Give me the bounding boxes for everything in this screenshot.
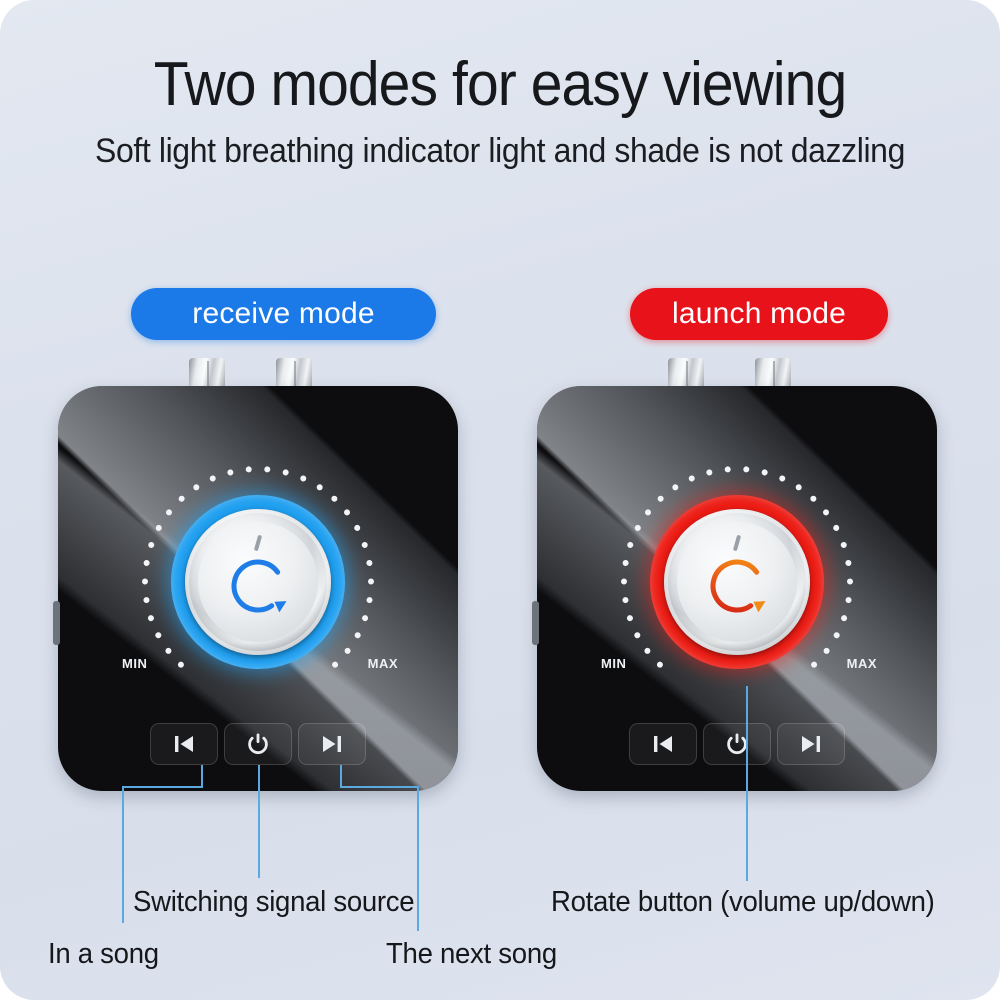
led-dot: [847, 579, 853, 585]
volume-knob-assembly[interactable]: MIN MAX: [140, 464, 376, 700]
led-dot: [366, 597, 373, 604]
control-button-row: [629, 722, 845, 766]
led-dot: [264, 466, 270, 472]
skip-forward-icon: [320, 733, 344, 755]
led-dot: [330, 494, 338, 502]
leader-line-next-song-seg3: [417, 786, 419, 931]
scale-label-min: MIN: [601, 656, 626, 671]
volume-knob-assembly[interactable]: MIN MAX: [619, 464, 855, 700]
rotary-knob[interactable]: [185, 509, 331, 655]
led-dot: [331, 660, 339, 668]
led-dot: [154, 631, 162, 639]
power-icon: [246, 732, 270, 756]
led-dot: [621, 579, 627, 585]
device-body: MIN MAX: [537, 386, 937, 791]
led-dot: [724, 466, 730, 472]
led-dot: [743, 466, 749, 472]
badge-receive-mode: receive mode: [131, 288, 436, 340]
badge-launch-mode: launch mode: [630, 288, 888, 340]
led-dot: [622, 597, 629, 604]
led-dot: [177, 660, 185, 668]
led-dot: [245, 466, 251, 472]
scale-label-max: MAX: [368, 656, 398, 671]
led-dot: [633, 631, 641, 639]
led-dot: [165, 508, 173, 516]
led-dot: [822, 647, 830, 655]
leader-line-rotate-button: [746, 686, 748, 881]
rotate-arrow-icon: [216, 544, 300, 628]
led-dot: [634, 524, 642, 532]
led-dot: [833, 631, 841, 639]
led-dot: [143, 560, 150, 567]
badge-launch-mode-label: launch mode: [672, 297, 846, 331]
led-dot: [840, 614, 848, 622]
knob-face: [198, 522, 318, 642]
led-dot: [299, 475, 307, 483]
leader-line-in-a-song-seg2: [122, 786, 203, 788]
led-dot: [343, 508, 351, 516]
page-subheadline: Soft light breathing indicator light and…: [30, 134, 970, 168]
leader-line-in-a-song-seg1: [201, 765, 203, 787]
led-dot: [656, 494, 664, 502]
led-dot: [845, 597, 852, 604]
led-dot: [147, 541, 155, 549]
led-dot: [810, 660, 818, 668]
skip-forward-icon: [799, 733, 823, 755]
led-dot: [761, 469, 768, 476]
led-dot: [822, 508, 830, 516]
next-track-button[interactable]: [298, 723, 366, 765]
side-button[interactable]: [53, 601, 60, 645]
led-dot: [795, 483, 803, 491]
led-dot: [368, 579, 374, 585]
leader-line-switching-signal-source: [258, 765, 260, 878]
led-dot: [155, 524, 163, 532]
led-dot: [706, 469, 713, 476]
led-dot: [626, 541, 634, 549]
rotary-knob[interactable]: [664, 509, 810, 655]
led-dot: [361, 614, 369, 622]
led-dot: [361, 541, 369, 549]
control-button-row: [150, 722, 366, 766]
led-dot: [142, 579, 148, 585]
leader-line-next-song-seg2: [340, 786, 418, 788]
knob-face: [677, 522, 797, 642]
led-dot: [644, 508, 652, 516]
next-track-button[interactable]: [777, 723, 845, 765]
led-dot: [353, 524, 361, 532]
led-dot: [227, 469, 234, 476]
led-dot: [840, 541, 848, 549]
led-dot: [671, 483, 679, 491]
caption-switching-signal-source: Switching signal source: [133, 886, 414, 919]
led-dot: [845, 560, 852, 567]
led-dot: [688, 475, 696, 483]
led-dot: [192, 483, 200, 491]
led-dot: [626, 614, 634, 622]
rotate-arrow-icon: [695, 544, 779, 628]
leader-line-next-song-seg1: [340, 765, 342, 787]
led-dot: [809, 494, 817, 502]
device-receive-mode: MIN MAX: [58, 386, 458, 816]
power-button[interactable]: [224, 723, 292, 765]
led-dot: [832, 524, 840, 532]
leader-line-in-a-song-seg3: [122, 786, 124, 923]
page-headline: Two modes for easy viewing: [40, 54, 960, 116]
led-dot: [343, 647, 351, 655]
previous-track-button[interactable]: [150, 723, 218, 765]
led-dot: [366, 560, 373, 567]
led-dot: [354, 631, 362, 639]
caption-in-a-song: In a song: [48, 938, 159, 971]
led-dot: [177, 494, 185, 502]
skip-back-icon: [172, 733, 196, 755]
led-dot: [622, 560, 629, 567]
caption-the-next-song: The next song: [386, 938, 557, 971]
led-dot: [209, 475, 217, 483]
led-dot: [778, 475, 786, 483]
led-dot: [643, 647, 651, 655]
led-dot: [164, 647, 172, 655]
power-button[interactable]: [703, 723, 771, 765]
scale-label-min: MIN: [122, 656, 147, 671]
led-dot: [147, 614, 155, 622]
led-ring-red: [650, 495, 824, 669]
device-launch-mode: MIN MAX: [537, 386, 937, 816]
skip-back-icon: [651, 733, 675, 755]
led-dot: [143, 597, 150, 604]
device-body: MIN MAX: [58, 386, 458, 791]
previous-track-button[interactable]: [629, 723, 697, 765]
led-dot: [656, 660, 664, 668]
product-feature-image: Two modes for easy viewing Soft light br…: [0, 0, 1000, 1000]
led-dot: [282, 469, 289, 476]
caption-rotate-button: Rotate button (volume up/down): [551, 886, 935, 919]
led-dot: [316, 483, 324, 491]
scale-label-max: MAX: [847, 656, 877, 671]
led-ring-blue: [171, 495, 345, 669]
side-button[interactable]: [532, 601, 539, 645]
badge-receive-mode-label: receive mode: [192, 297, 375, 331]
